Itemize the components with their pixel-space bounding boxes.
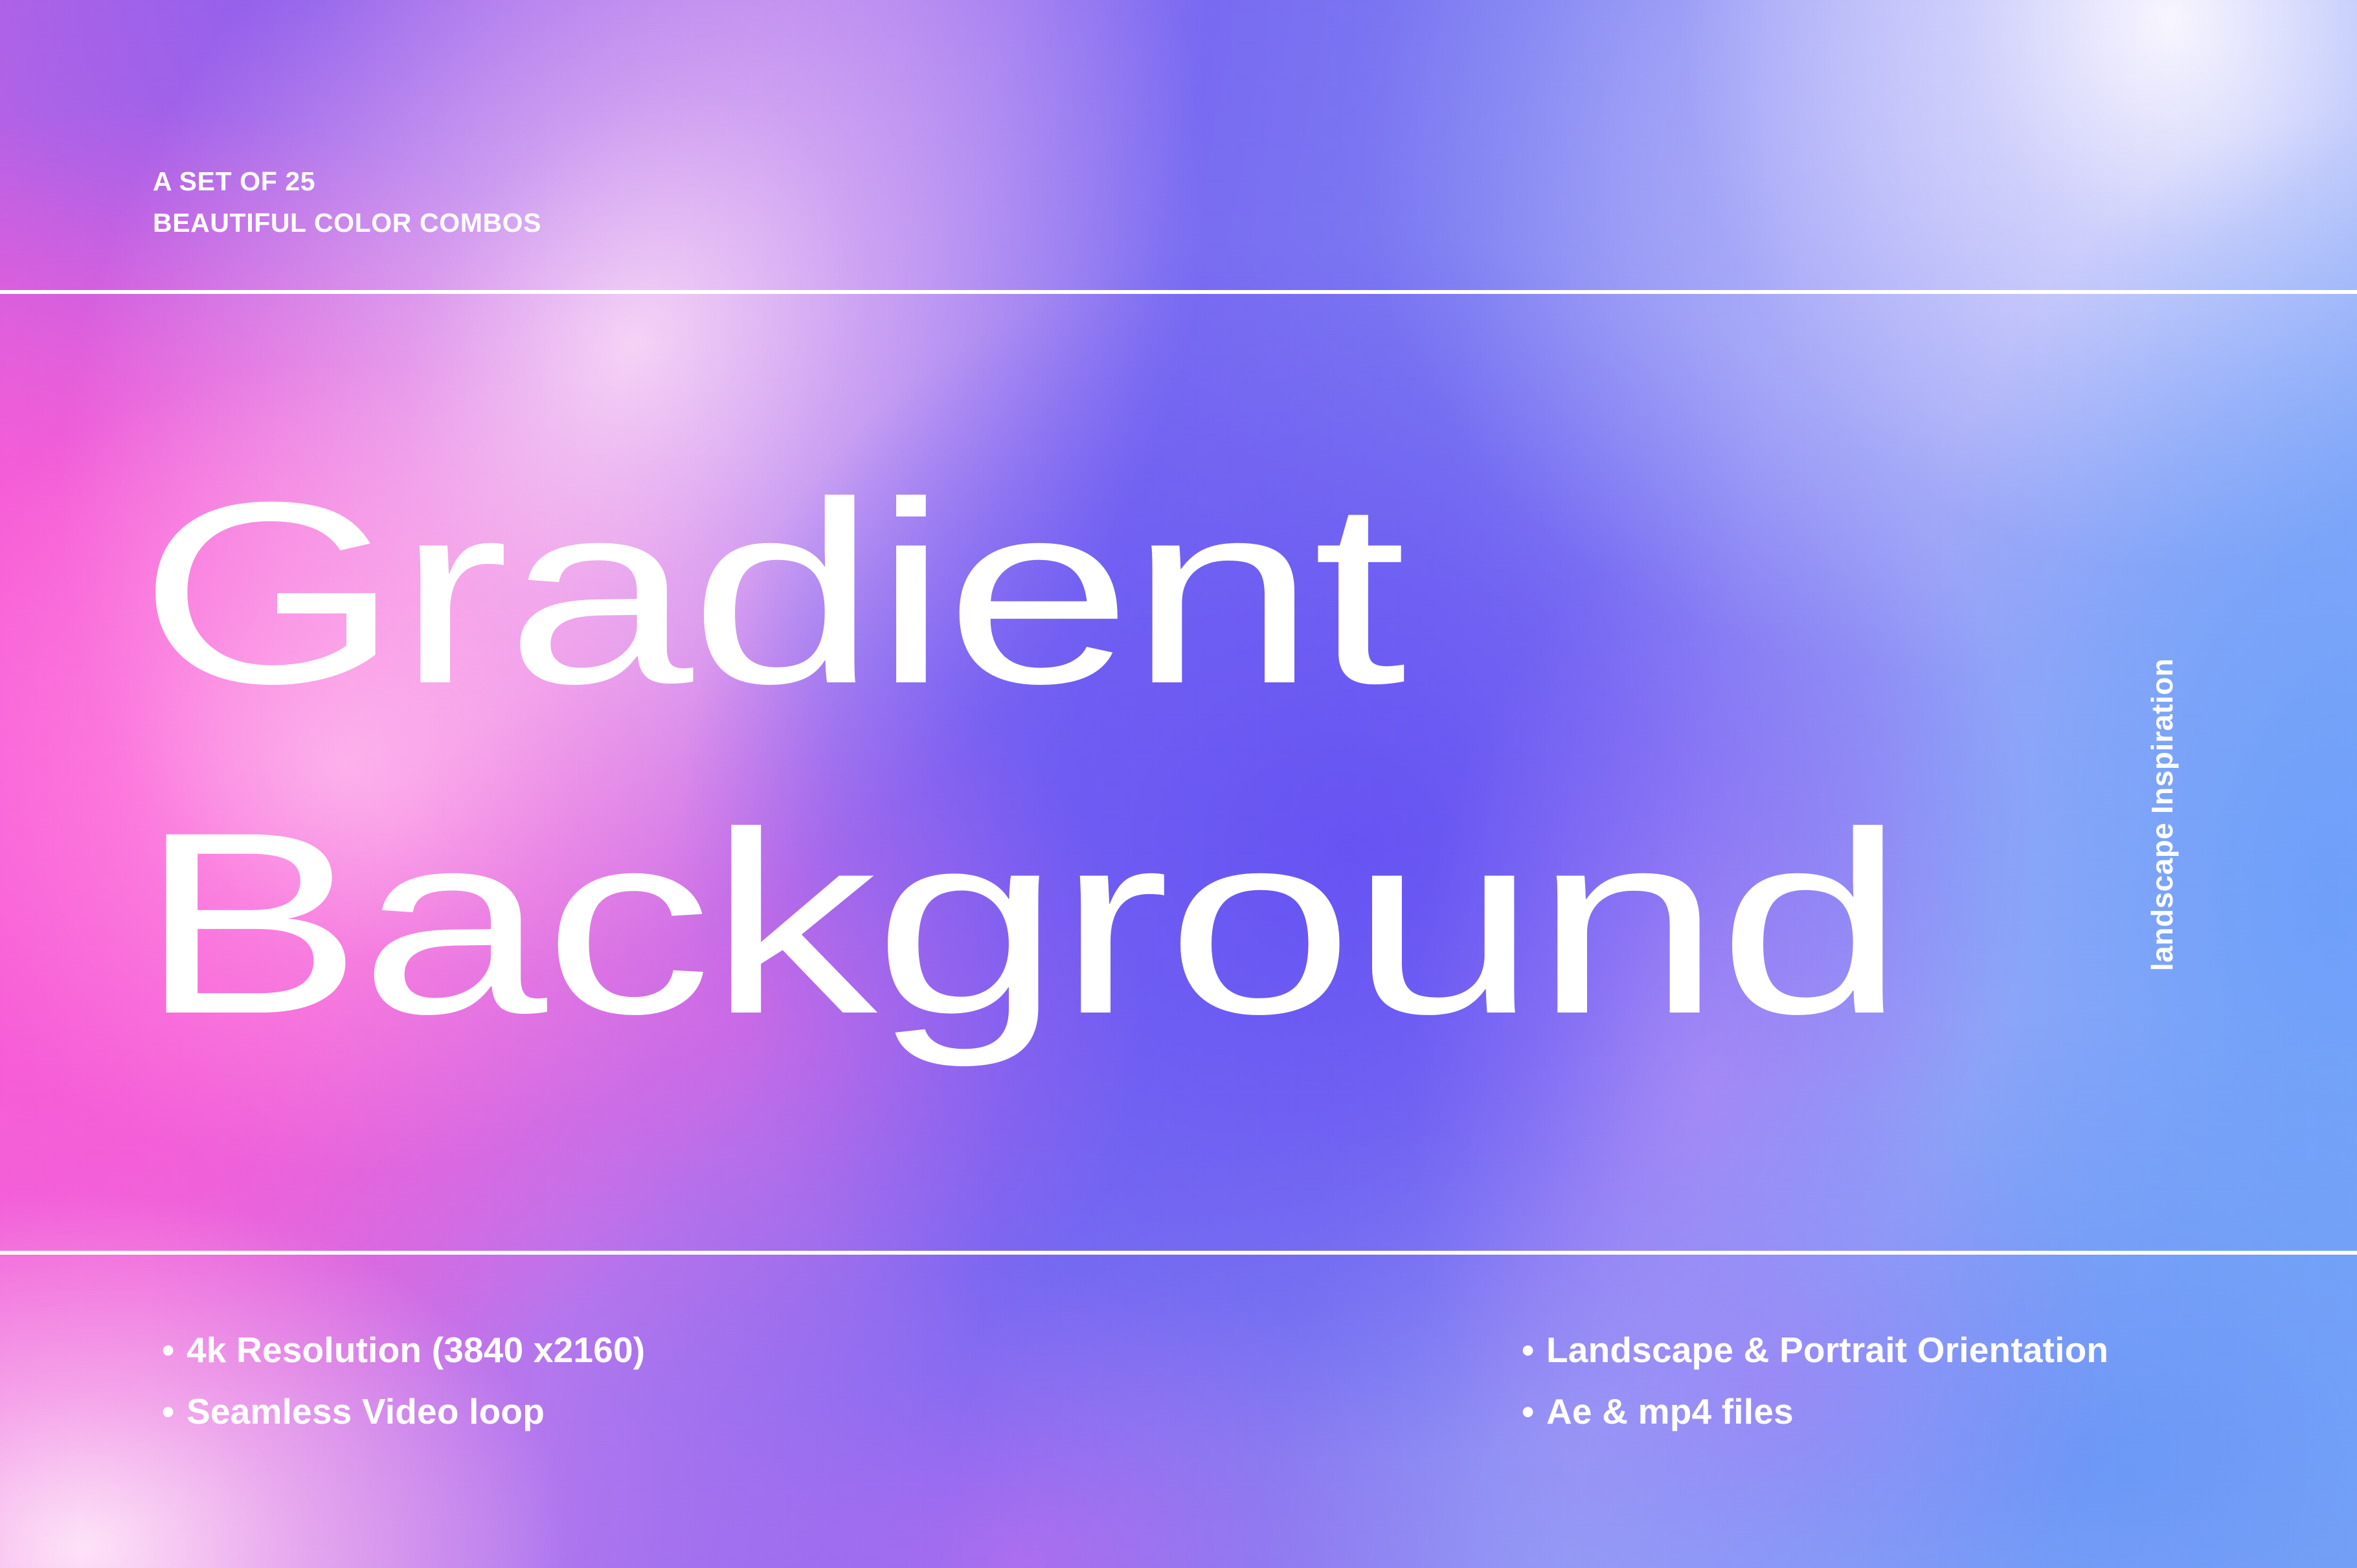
bullet-icon: • <box>162 1381 186 1442</box>
feature-list-right: • Landscape & Portrait Orientation • Ae … <box>1522 1319 2108 1442</box>
header-line-1: A SET OF 25 <box>153 161 541 202</box>
list-item: • 4k Resolution (3840 x2160) <box>162 1319 645 1381</box>
feature-list-left: • 4k Resolution (3840 x2160) • Seamless … <box>162 1319 645 1442</box>
page-title: Gradient Background <box>139 464 1495 1053</box>
feature-label: Landscape & Portrait Orientation <box>1546 1319 2108 1381</box>
headline-line-background: Background <box>139 794 1902 1053</box>
list-item: • Seamless Video loop <box>162 1381 645 1442</box>
feature-label: Ae & mp4 files <box>1546 1381 1794 1442</box>
list-item: • Ae & mp4 files <box>1522 1381 2108 1442</box>
divider-rule-bottom <box>0 1251 2357 1255</box>
feature-label: 4k Resolution (3840 x2160) <box>186 1319 645 1381</box>
header-line-2: BEAUTIFUL COLOR COMBOS <box>153 202 541 243</box>
poster-canvas: A SET OF 25 BEAUTIFUL COLOR COMBOS Gradi… <box>0 0 2357 1568</box>
bullet-icon: • <box>162 1319 186 1381</box>
header-block: A SET OF 25 BEAUTIFUL COLOR COMBOS <box>153 161 541 243</box>
feature-label: Seamless Video loop <box>186 1381 545 1442</box>
vertical-caption: landscape Inspiration <box>2145 658 2180 971</box>
list-item: • Landscape & Portrait Orientation <box>1522 1319 2108 1381</box>
bullet-icon: • <box>1522 1319 1546 1381</box>
headline-line-gradient: Gradient <box>139 464 1902 722</box>
bullet-icon: • <box>1522 1381 1546 1442</box>
divider-rule-top <box>0 290 2357 294</box>
